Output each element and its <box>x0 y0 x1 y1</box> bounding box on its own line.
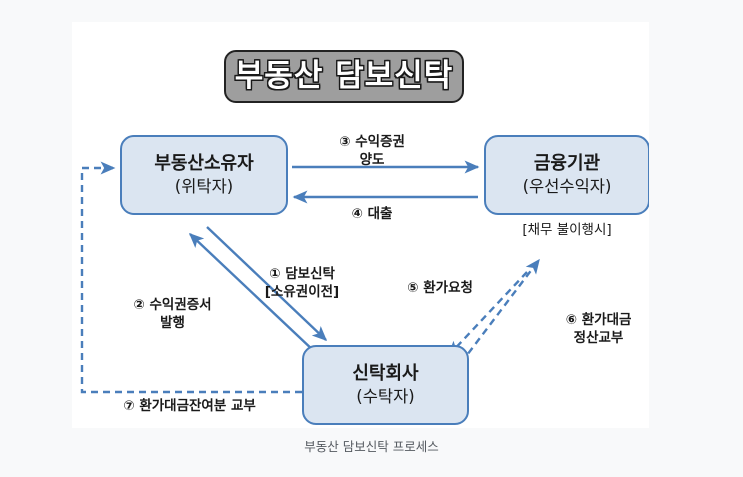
diagram-title-text: 부동산 담보신탁 <box>235 61 453 92</box>
diagram-title-plate: 부동산 담보신탁 <box>224 50 464 103</box>
flow-label-7-line1: ⑦ 환가대금잔여분 교부 <box>92 398 287 416</box>
flow-label-6: ⑥ 환가대금 정산교부 <box>546 312 649 348</box>
entity-trust-subtitle: (수탁자) <box>356 386 414 407</box>
note-default-condition: [채무 불이행시] <box>502 222 632 240</box>
flow-label-4: ④ 대출 <box>327 206 417 224</box>
diagram-figure: 부동산 담보신탁 <box>72 22 649 428</box>
flow-label-1-line2: [소유권이전] <box>242 284 362 302</box>
entity-box-owner[interactable]: 부동산소유자 (위탁자) <box>120 135 288 215</box>
entity-bank-title: 금융기관 <box>534 153 600 176</box>
flow-label-5: ⑤ 환가요청 <box>390 280 490 298</box>
entity-owner-title: 부동산소유자 <box>154 153 253 176</box>
entity-box-trust[interactable]: 신탁회사 (수탁자) <box>302 345 469 425</box>
note-default-condition-text: [채무 불이행시] <box>502 222 632 240</box>
flow-label-1-line1: ① 담보신탁 <box>242 266 362 284</box>
entity-bank-subtitle: (우선수익자) <box>523 176 612 197</box>
flow-label-2-line1: ② 수익권증서 <box>105 297 240 315</box>
figure-caption: 부동산 담보신탁 프로세스 <box>0 436 743 455</box>
entity-trust-title: 신탁회사 <box>352 363 418 386</box>
entity-owner-subtitle: (위탁자) <box>175 176 233 197</box>
flow-label-4-line1: ④ 대출 <box>327 206 417 224</box>
entity-box-bank[interactable]: 금융기관 (우선수익자) <box>484 135 649 215</box>
flow-label-3: ③ 수익증권 양도 <box>312 134 432 170</box>
arrow-6-trust-to-bank <box>461 260 539 363</box>
flow-label-2-line2: 발행 <box>105 315 240 333</box>
flow-label-7: ⑦ 환가대금잔여분 교부 <box>92 398 287 416</box>
flow-label-6-line1: ⑥ 환가대금 <box>546 312 649 330</box>
page-background: 부동산 담보신탁 <box>0 0 743 477</box>
flow-label-3-line1: ③ 수익증권 <box>312 134 432 152</box>
flow-label-6-line2: 정산교부 <box>546 330 649 348</box>
flow-label-5-line1: ⑤ 환가요청 <box>390 280 490 298</box>
flow-label-3-line2: 양도 <box>312 152 432 170</box>
flow-label-2: ② 수익권증서 발행 <box>105 297 240 333</box>
flow-label-1: ① 담보신탁 [소유권이전] <box>242 266 362 302</box>
